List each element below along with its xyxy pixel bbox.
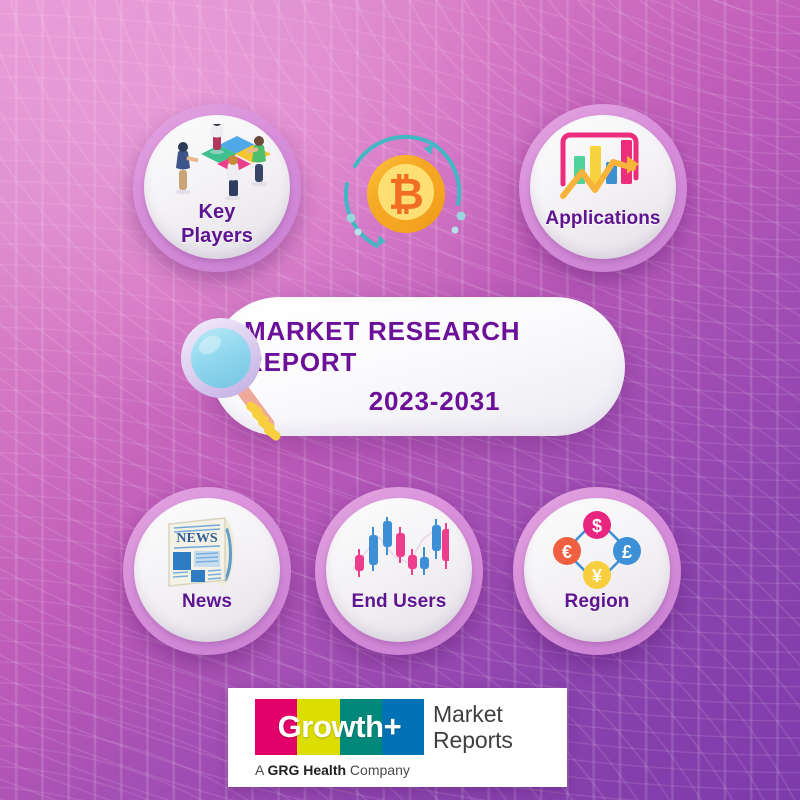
currency-jpy: ¥ [592,566,602,586]
banner-title-line2: 2023-2031 [369,386,501,417]
badge-label-end-users: End Users [352,592,447,613]
infographic-canvas: Key Players [0,0,800,800]
currency-eur: € [562,542,572,562]
logo-tagline: A GRG Health Company [255,762,513,778]
badge-label-key-players: Key Players [181,201,253,248]
badge-face: NEWS [134,498,280,642]
tagline-suffix: Company [346,762,410,778]
badge-region[interactable]: $ € £ ¥ Region [513,487,681,655]
candlestick-chart-icon [349,512,449,590]
tagline-prefix: A [255,762,267,778]
badge-applications[interactable]: Applications [519,104,687,272]
banner-title-line1: MARKET RESEARCH REPORT [244,316,625,378]
bitcoin-coin-icon: ₿ [333,122,479,268]
tagline-bold: GRG Health [267,762,346,778]
currency-exchange-icon: $ € £ ¥ [553,512,641,590]
badge-label-line1: Applications [545,209,660,230]
badge-key-players[interactable]: Key Players [133,104,301,272]
team-puzzle-icon [161,125,273,199]
newspaper-masthead: NEWS [176,531,217,546]
bitcoin-symbol: ₿ [388,170,424,219]
badge-label-line1: Key [181,201,253,225]
growth-plus-logomark: Growth+ [255,699,424,755]
badge-label-region: Region [565,592,630,613]
newspaper-icon: NEWS [159,512,255,590]
badge-face: Applications [530,115,676,259]
logo-product-name: Market Reports [433,703,513,752]
currency-usd: $ [592,516,602,536]
badge-end-users[interactable]: End Users [315,487,483,655]
magnifying-glass-icon [176,312,296,448]
logo-brand-word: Growth+ [255,699,424,755]
bar-chart-growth-icon [555,129,651,207]
badge-label-applications: Applications [545,209,660,230]
badge-face: $ € £ ¥ Region [524,498,670,642]
badge-label-line1: End Users [352,592,447,613]
badge-label-news: News [182,592,232,613]
badge-face: Key Players [144,115,290,259]
badge-label-line1: News [182,592,232,613]
currency-gbp: £ [622,542,632,562]
logo-product-line1: Market [433,703,513,726]
badge-news[interactable]: NEWS [123,487,291,655]
logo-product-line2: Reports [433,729,513,752]
company-logo[interactable]: Growth+ Market Reports A GRG Health Comp… [228,688,567,787]
badge-face: End Users [326,498,472,642]
badge-label-line1: Region [565,592,630,613]
badge-label-line2: Players [181,225,253,249]
